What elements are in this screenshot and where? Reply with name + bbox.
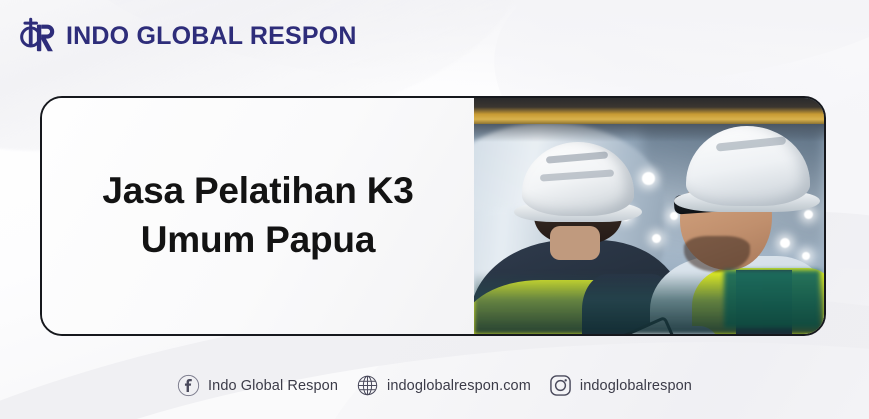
headline-line-1: Jasa Pelatihan K3: [102, 170, 413, 211]
photo-green-machine: [724, 270, 820, 328]
headline-line-2: Umum Papua: [141, 219, 375, 260]
photo-ceiling-light: [804, 210, 813, 219]
promo-banner: INDO GLOBAL RESPON Jasa Pelatihan K3 Umu…: [0, 0, 869, 419]
brand-name: INDO GLOBAL RESPON: [66, 24, 357, 49]
photo-ceiling-light: [802, 252, 810, 260]
photo-ceiling-light: [642, 172, 655, 185]
photo-ceiling-beam: [474, 98, 824, 124]
globe-icon: [356, 374, 379, 397]
social-link-facebook[interactable]: Indo Global Respon: [168, 374, 347, 397]
photo-ceiling-light: [652, 234, 661, 243]
social-link-instagram[interactable]: indoglobalrespon: [540, 374, 701, 397]
social-label-instagram: indoglobalrespon: [580, 378, 692, 394]
content-card: Jasa Pelatihan K3 Umum Papua: [40, 96, 826, 336]
photo-worker-left-neck: [550, 226, 600, 260]
page-title: Jasa Pelatihan K3 Umum Papua: [102, 167, 413, 265]
social-label-website: indoglobalrespon.com: [387, 378, 531, 394]
social-footer: Indo Global Respon indoglobalrespon.com: [0, 374, 869, 397]
social-link-website[interactable]: indoglobalrespon.com: [347, 374, 540, 397]
hero-photo: [474, 98, 824, 334]
social-label-facebook: Indo Global Respon: [208, 378, 338, 394]
igr-monogram-icon: [14, 16, 56, 56]
card-text-pane: Jasa Pelatihan K3 Umum Papua: [42, 98, 474, 334]
instagram-icon: [549, 374, 572, 397]
facebook-icon: [177, 374, 200, 397]
brand-header[interactable]: INDO GLOBAL RESPON: [14, 16, 357, 56]
photo-ceiling-light: [780, 238, 790, 248]
